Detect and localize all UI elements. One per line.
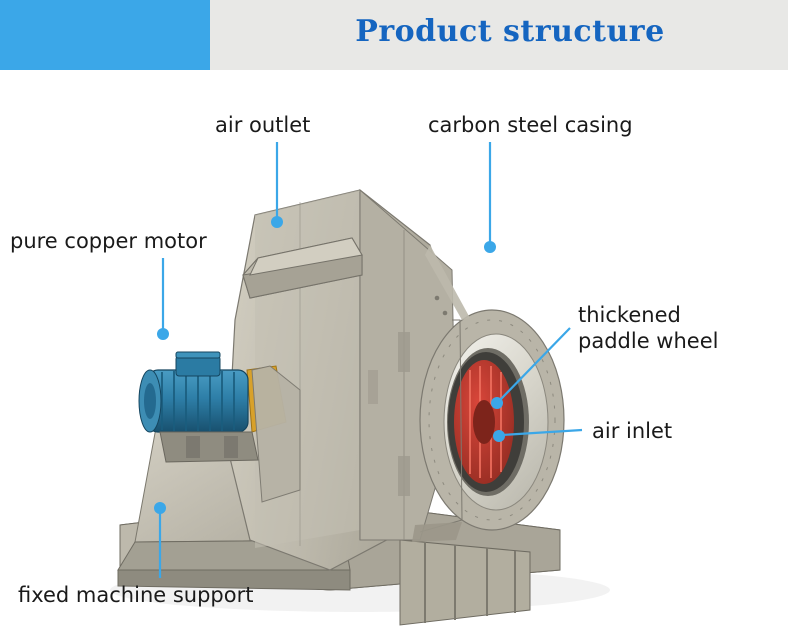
callout-labels: air outlet carbon steel casing pure copp… — [0, 70, 788, 626]
label-pure-copper-motor: pure copper motor — [10, 228, 207, 254]
page-title: Product structure — [300, 14, 720, 49]
diagram-stage: air outlet carbon steel casing pure copp… — [0, 70, 788, 626]
label-thickened-paddle-wheel-line-2: paddle wheel — [578, 328, 758, 354]
label-carbon-steel-casing: carbon steel casing — [428, 112, 633, 138]
header-accent-block — [0, 0, 210, 70]
label-fixed-machine-support: fixed machine support — [18, 582, 253, 608]
product-structure-page: Product structure — [0, 0, 788, 626]
label-air-inlet: air inlet — [592, 418, 672, 444]
label-air-outlet: air outlet — [215, 112, 310, 138]
label-thickened-paddle-wheel-line-1: thickened — [578, 302, 758, 328]
page-header: Product structure — [0, 0, 788, 70]
label-thickened-paddle-wheel: thickened paddle wheel — [578, 302, 758, 354]
